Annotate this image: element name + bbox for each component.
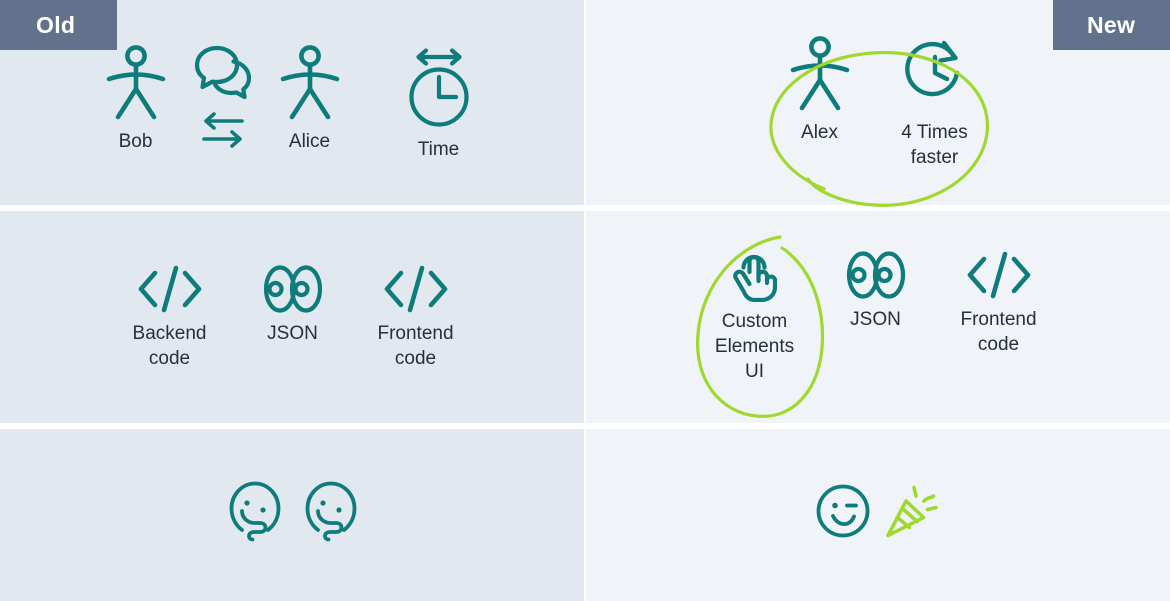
item-label: JSON [850, 307, 901, 332]
item-label: Custom Elements UI [715, 309, 794, 384]
item-label: JSON [267, 321, 318, 346]
item-label: Time [418, 137, 460, 162]
clock-rotate-icon [904, 35, 966, 113]
item-4-times-faster: 4 Times faster [880, 35, 990, 170]
row-divider-1 [0, 205, 1170, 211]
badge-old: Old [0, 0, 117, 50]
speech-bubbles-icon [193, 44, 253, 102]
tap-hand-icon [726, 250, 784, 302]
eyes-icon [845, 250, 907, 300]
item-alex: Alex [766, 35, 874, 145]
item-label: Alex [801, 120, 838, 145]
new-row-code: Custom Elements UI JSON [585, 211, 1170, 423]
item-communication [184, 44, 262, 155]
item-frontend-code: Frontend code [943, 250, 1055, 357]
item-label: Bob [119, 129, 153, 154]
badge-old-label: Old [36, 12, 75, 39]
person-standing-icon [279, 44, 341, 122]
item-json: JSON [250, 264, 336, 346]
item-time: Time [380, 44, 498, 162]
old-row3-group [229, 481, 357, 550]
clock-duration-icon [404, 44, 474, 130]
code-brackets-icon [964, 250, 1034, 300]
row-divider-2 [0, 423, 1170, 429]
column-divider [584, 0, 586, 601]
new-row2-group: Custom Elements UI JSON [701, 250, 1055, 384]
melting-face-icon [229, 481, 281, 543]
item-mood-right [305, 481, 357, 550]
item-json: JSON [833, 250, 919, 332]
item-mood-left [229, 481, 281, 550]
winking-face-icon [816, 484, 870, 538]
comparison-board: Bob [0, 0, 1170, 601]
melting-face-icon [305, 481, 357, 543]
item-celebration [884, 484, 940, 547]
item-label: Frontend code [377, 321, 453, 371]
old-panel: Bob [0, 0, 585, 601]
item-frontend-code: Frontend code [360, 264, 472, 371]
new-row-mood [585, 429, 1170, 601]
item-label: Backend code [133, 321, 207, 371]
old-row-code: Backend code JSON [0, 211, 585, 423]
bubble-stack [193, 44, 253, 148]
new-row3-group [816, 484, 940, 547]
code-brackets-icon [381, 264, 451, 314]
new-row1-group: Alex 4 Times faster [766, 35, 990, 170]
item-label: Frontend code [960, 307, 1036, 357]
item-happy [816, 484, 870, 545]
item-label: 4 Times faster [901, 120, 968, 170]
person-walking-icon [789, 35, 851, 113]
badge-new-label: New [1087, 12, 1135, 39]
code-brackets-icon [135, 264, 205, 314]
eyes-icon [262, 264, 324, 314]
badge-new: New [1053, 0, 1170, 50]
item-alice: Alice [262, 44, 358, 154]
new-panel: Alex 4 Times faster [585, 0, 1170, 601]
party-popper-icon [884, 484, 940, 540]
old-row1-group: Bob [88, 44, 498, 162]
item-custom-elements-ui: Custom Elements UI [701, 250, 809, 384]
old-row-mood [0, 429, 585, 601]
person-standing-icon [105, 44, 167, 122]
item-bob: Bob [88, 44, 184, 154]
exchange-arrows-icon [200, 112, 246, 148]
old-row2-group: Backend code JSON [114, 264, 472, 371]
item-backend-code: Backend code [114, 264, 226, 371]
item-label: Alice [289, 129, 330, 154]
